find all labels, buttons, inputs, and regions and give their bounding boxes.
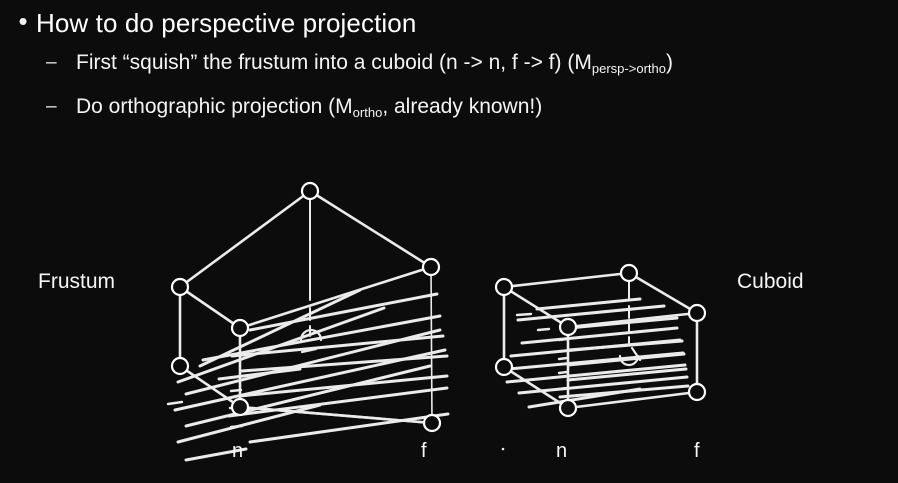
bullet-marker-icon: • <box>10 6 36 36</box>
bullet-item-2: – Do orthographic projection (Mortho, al… <box>0 80 898 124</box>
cuboid-shape <box>496 265 705 449</box>
cuboid-label: Cuboid <box>737 270 804 294</box>
bullet-item-2-prefix: Do orthographic projection (M <box>76 95 353 118</box>
bullet-item-1-subscript: persp->ortho <box>592 61 666 76</box>
bullet-item-1-suffix: ) <box>666 51 673 74</box>
bullet-item-1: – First “squish” the frustum into a cubo… <box>0 40 898 80</box>
page-title: How to do perspective projection <box>36 6 416 40</box>
slide-root: • How to do perspective projection – Fir… <box>0 0 898 483</box>
frustum-far-label: f <box>421 440 427 462</box>
bullet-item-2-text: Do orthographic projection (Mortho, alre… <box>76 92 542 124</box>
dash-marker-icon: – <box>46 92 76 122</box>
bullet-item-2-subscript: ortho <box>353 105 383 120</box>
frustum-near-label: n <box>232 440 243 462</box>
bullet-item-1-prefix: First “squish” the frustum into a cuboid… <box>76 51 592 74</box>
dash-marker-icon: – <box>46 48 76 78</box>
bullet-title-row: • How to do perspective projection <box>0 0 898 40</box>
frustum-hatch-lines <box>175 290 448 460</box>
bullet-item-2-suffix: , already known!) <box>382 95 542 118</box>
cuboid-near-label: n <box>556 440 567 462</box>
frustum-shape <box>168 183 448 460</box>
projection-diagram-svg <box>0 160 898 483</box>
bullet-list: • How to do perspective projection – Fir… <box>0 0 898 124</box>
frustum-label: Frustum <box>38 270 115 294</box>
diagram-area <box>0 160 898 483</box>
cuboid-far-label: f <box>694 440 700 462</box>
cuboid-hatch-lines <box>507 299 688 407</box>
bullet-item-1-text: First “squish” the frustum into a cuboid… <box>76 48 673 80</box>
